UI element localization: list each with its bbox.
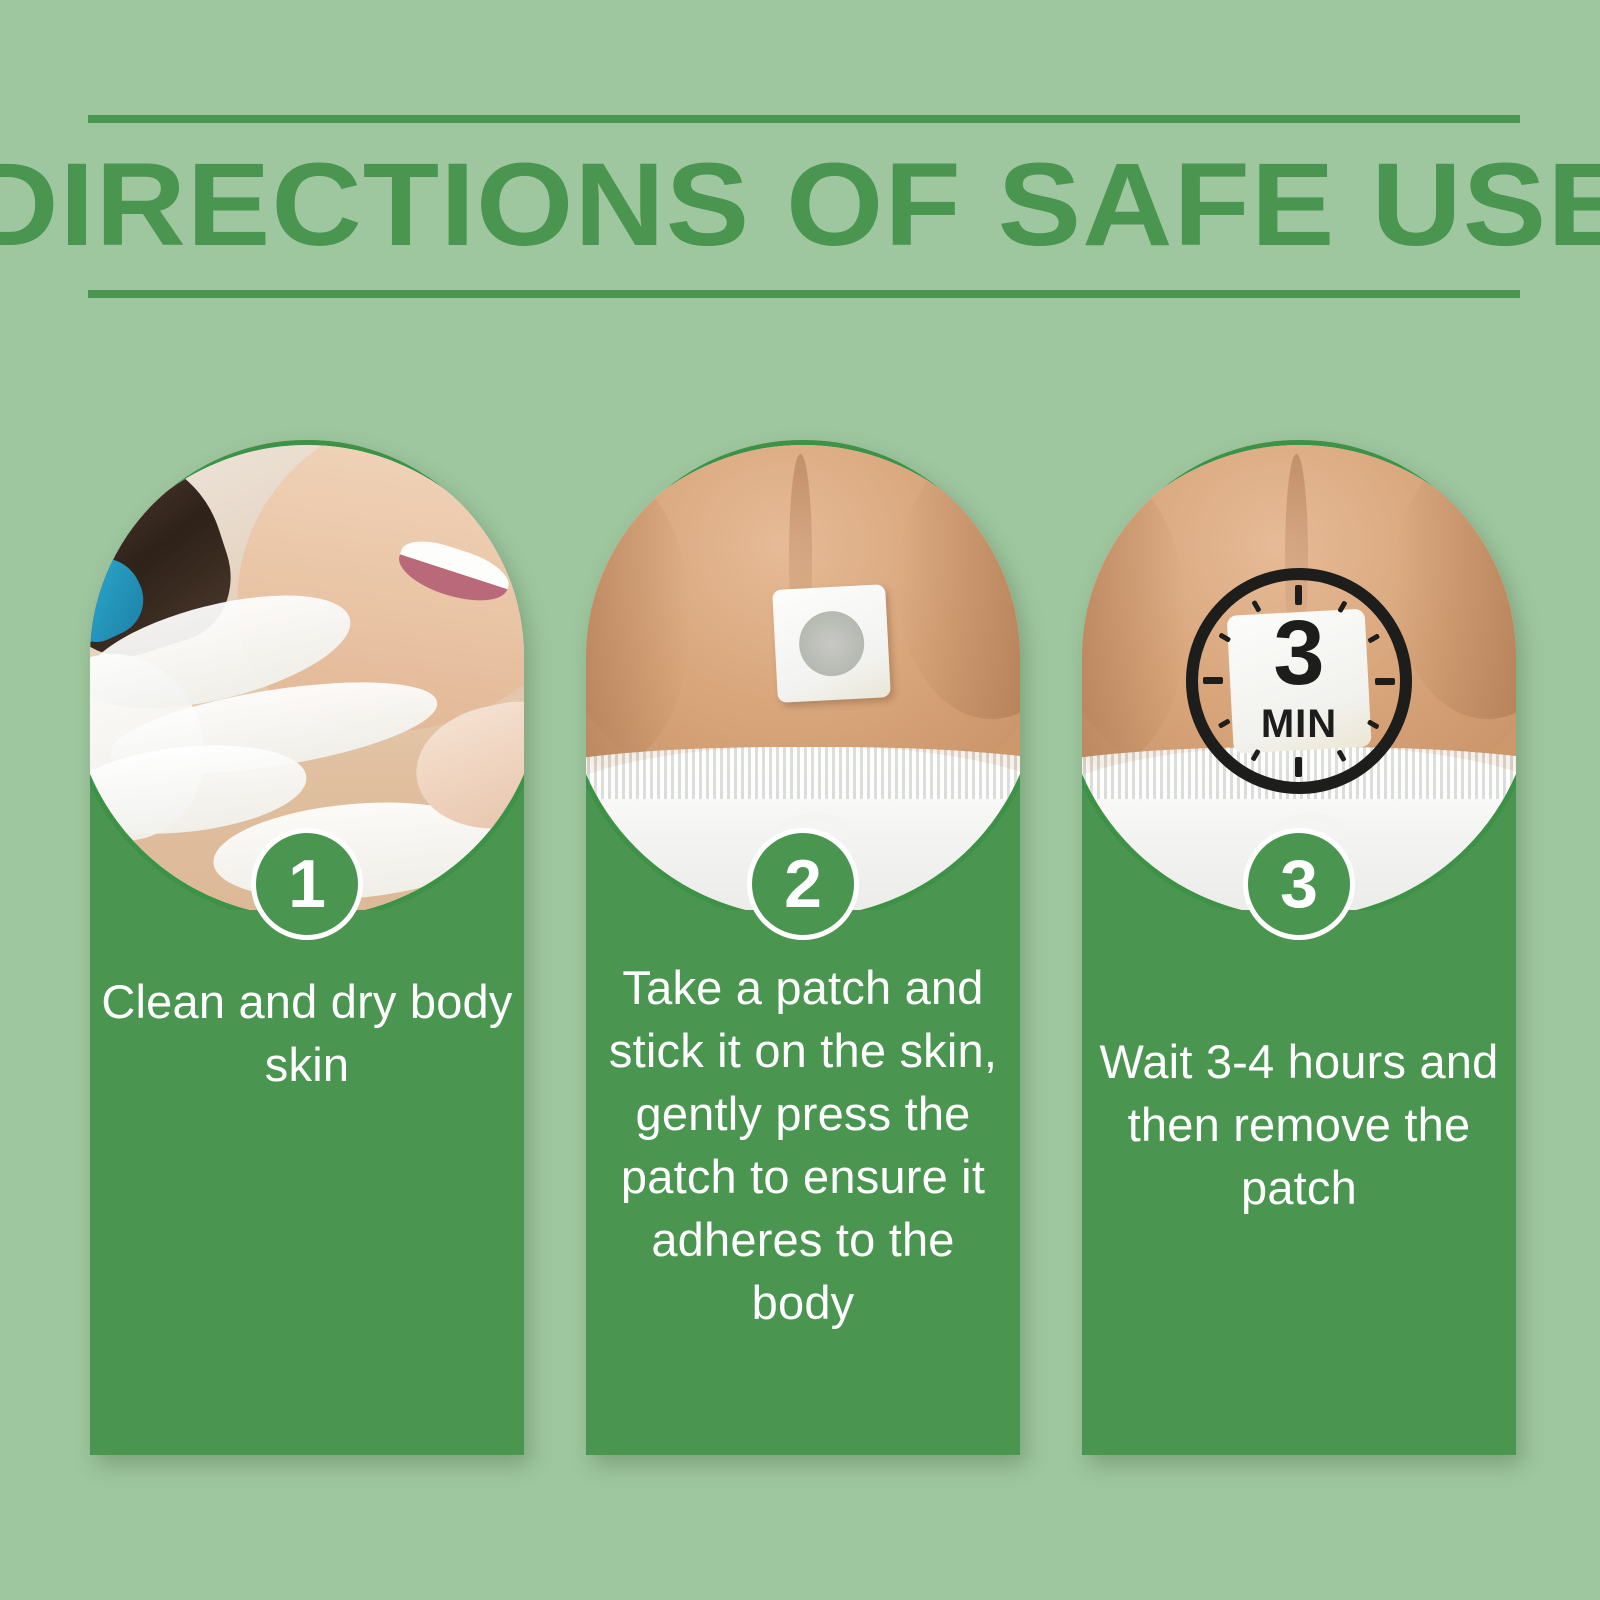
title-rule-top [88, 115, 1520, 123]
header: DIRECTIONS OF SAFE USE [0, 0, 1600, 330]
adhesive-patch-icon [772, 584, 891, 703]
clock-unit: MIN [1261, 704, 1337, 744]
steps-container: 1 Clean and dry body skin [90, 440, 1516, 1455]
step-card-3[interactable]: 3 MIN 3 Wait 3-4 hours and then remove t… [1082, 440, 1516, 1455]
clock-value: 3 [1273, 607, 1324, 699]
clock-icon: 3 MIN [1186, 568, 1413, 795]
infographic-page: DIRECTIONS OF SAFE USE [0, 0, 1600, 1600]
step-caption-1: Clean and dry body skin [100, 970, 514, 1096]
step-number-badge-2: 2 [747, 828, 859, 940]
title-rule-bottom [88, 290, 1520, 298]
step-caption-3: Wait 3-4 hours and then remove the patch [1092, 1030, 1506, 1219]
step-caption-2: Take a patch and stick it on the skin, g… [596, 956, 1010, 1334]
step-number-badge-3: 3 [1243, 828, 1355, 940]
page-title: DIRECTIONS OF SAFE USE [0, 132, 1600, 278]
step-number-badge-1: 1 [251, 828, 363, 940]
step-card-2[interactable]: 2 Take a patch and stick it on the skin,… [586, 440, 1020, 1455]
step-card-1[interactable]: 1 Clean and dry body skin [90, 440, 524, 1455]
